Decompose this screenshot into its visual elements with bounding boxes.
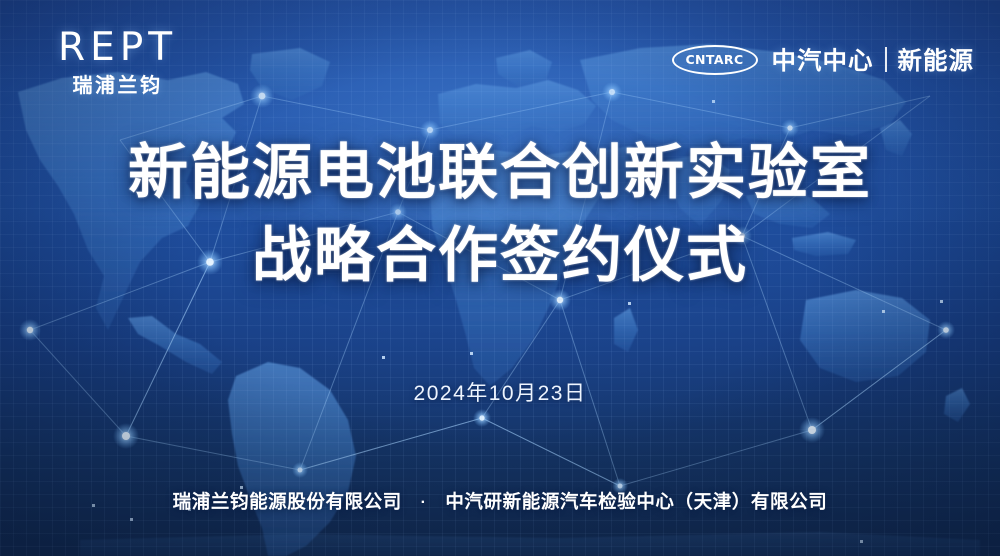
presentation-slide: REPT 瑞浦兰钧 CNTARC 中汽中心 新能源 新能源电池联合创新实验室 战… bbox=[0, 0, 1000, 556]
partner-right: 中汽研新能源汽车检验中心（天津）有限公司 bbox=[445, 491, 827, 512]
cntarc-name-group: 中汽中心 新能源 bbox=[772, 42, 975, 77]
cntarc-logo: CNTARC 中汽中心 新能源 bbox=[672, 42, 975, 77]
title-line-2: 战略合作签约仪式 bbox=[0, 215, 1000, 298]
rept-chinese-name: 瑞浦兰钧 bbox=[58, 76, 177, 96]
cntarc-badge-text: CNTARC bbox=[685, 52, 743, 67]
cntarc-division: 新能源 bbox=[898, 42, 975, 77]
title-line-1: 新能源电池联合创新实验室 bbox=[0, 132, 1000, 215]
event-date: 2024年10月23日 bbox=[0, 377, 1000, 407]
partner-organisations: 瑞浦兰钧能源股份有限公司 · 中汽研新能源汽车检验中心（天津）有限公司 bbox=[0, 488, 1000, 514]
continents-shape bbox=[18, 44, 980, 556]
vertical-divider-icon bbox=[885, 47, 887, 72]
page-title: 新能源电池联合创新实验室 战略合作签约仪式 bbox=[0, 132, 1000, 298]
cntarc-org-name: 中汽中心 bbox=[772, 42, 874, 77]
partner-separator: · bbox=[421, 494, 427, 511]
cntarc-badge-icon: CNTARC bbox=[672, 45, 758, 75]
rept-wordmark: REPT bbox=[58, 28, 177, 67]
partner-left: 瑞浦兰钧能源股份有限公司 bbox=[173, 491, 402, 512]
rept-logo: REPT 瑞浦兰钧 bbox=[58, 28, 177, 96]
